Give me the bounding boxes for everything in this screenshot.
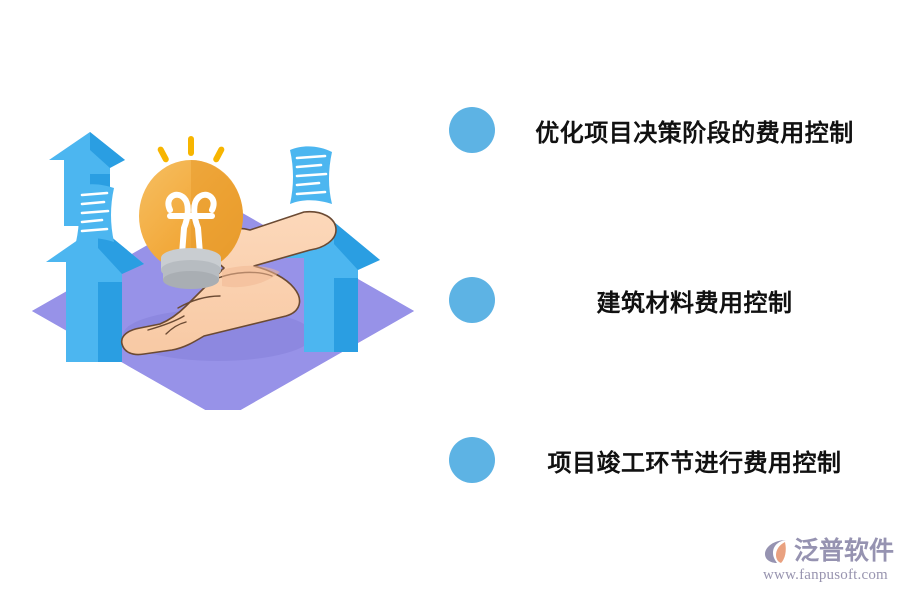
infographic-canvas: 优化项目决策阶段的费用控制 建筑材料费用控制 项目竣工环节进行费用控制 泛普软件… [0, 0, 900, 600]
document-sheet-left [76, 184, 114, 242]
bullet-dot-icon [449, 107, 495, 153]
lightbulb-base [161, 248, 221, 289]
document-sheet-right [290, 146, 332, 204]
hand-holding-lightbulb-illustration [18, 130, 428, 410]
fanpu-leaf-logo-icon [762, 536, 792, 566]
watermark-brand-row: 泛普软件 [762, 534, 894, 568]
watermark-brand-name: 泛普软件 [794, 536, 894, 566]
bullet-dot-icon [449, 277, 495, 323]
list-item[interactable]: 项目竣工环节进行费用控制 [440, 430, 900, 490]
bullet-item-label-1: 优化项目决策阶段的费用控制 [495, 113, 900, 148]
bullet-dot-icon [449, 437, 495, 483]
bullet-item-label-3: 项目竣工环节进行费用控制 [495, 443, 900, 478]
bullet-item-label-2: 建筑材料费用控制 [495, 283, 900, 318]
list-item[interactable]: 优化项目决策阶段的费用控制 [440, 100, 900, 160]
lightbulb-sparks [157, 136, 226, 163]
watermark-logo: 泛普软件 www.fanpusoft.com [762, 534, 894, 590]
bullet-list: 优化项目决策阶段的费用控制 建筑材料费用控制 项目竣工环节进行费用控制 [440, 0, 900, 600]
watermark-url: www.fanpusoft.com [763, 567, 888, 584]
list-item[interactable]: 建筑材料费用控制 [440, 270, 900, 330]
